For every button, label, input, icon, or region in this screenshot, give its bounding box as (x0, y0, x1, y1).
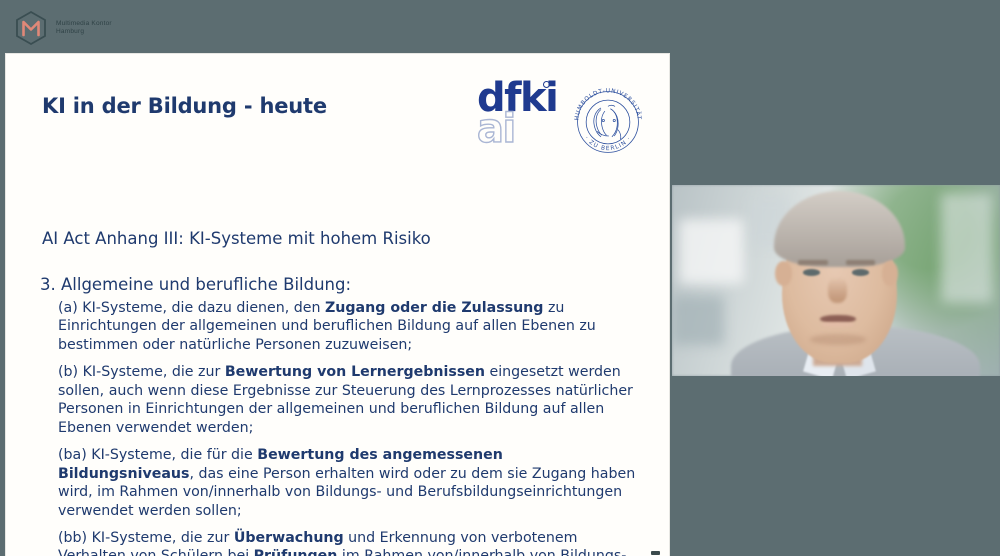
slide-subtitle: AI Act Anhang III: KI-Systeme mit hohem … (42, 229, 431, 248)
dfki-dot-icon (543, 81, 550, 88)
slide-logos: dfki ai HUMBOLDT-UNIVERSITÄT · ZU (477, 79, 647, 161)
organizer-logo-line1: Multimedia Kontor (56, 20, 112, 28)
slide-section-heading: 3. Allgemeine und berufliche Bildung: (40, 275, 351, 294)
organizer-logo: Multimedia Kontor Hamburg (14, 10, 124, 46)
organizer-logo-line2: Hamburg (56, 28, 112, 36)
organizer-logo-text: Multimedia Kontor Hamburg (56, 20, 112, 36)
presentation-slide: KI in der Bildung - heute dfki ai HUMBOL… (5, 53, 670, 556)
slide-body: (a) KI-Systeme, die dazu dienen, den Zug… (58, 299, 638, 556)
slide-paragraph-ba: (ba) KI-Systeme, die für die Bewertung d… (58, 446, 638, 520)
dfki-logo: dfki ai (477, 79, 563, 159)
participant-video-tile[interactable] (672, 185, 1000, 376)
slide-title: KI in der Bildung - heute (42, 94, 327, 118)
svg-text:HUMBOLDT-UNIVERSITÄT: HUMBOLDT-UNIVERSITÄT (574, 88, 642, 120)
mkh-hexagon-m-icon (14, 10, 48, 46)
slide-paragraph-a: (a) KI-Systeme, die dazu dienen, den Zug… (58, 299, 638, 354)
slide-controls-nub[interactable] (651, 551, 660, 555)
slide-paragraph-bb: (bb) KI-Systeme, die zur Überwachung und… (58, 529, 638, 556)
humboldt-university-seal-icon: HUMBOLDT-UNIVERSITÄT · ZU BERLIN · (569, 83, 647, 161)
slide-paragraph-b: (b) KI-Systeme, die zur Bewertung von Le… (58, 363, 638, 437)
screen-share-stage: Multimedia Kontor Hamburg KI in der Bild… (0, 0, 1000, 556)
video-softening-overlay (672, 185, 1000, 376)
